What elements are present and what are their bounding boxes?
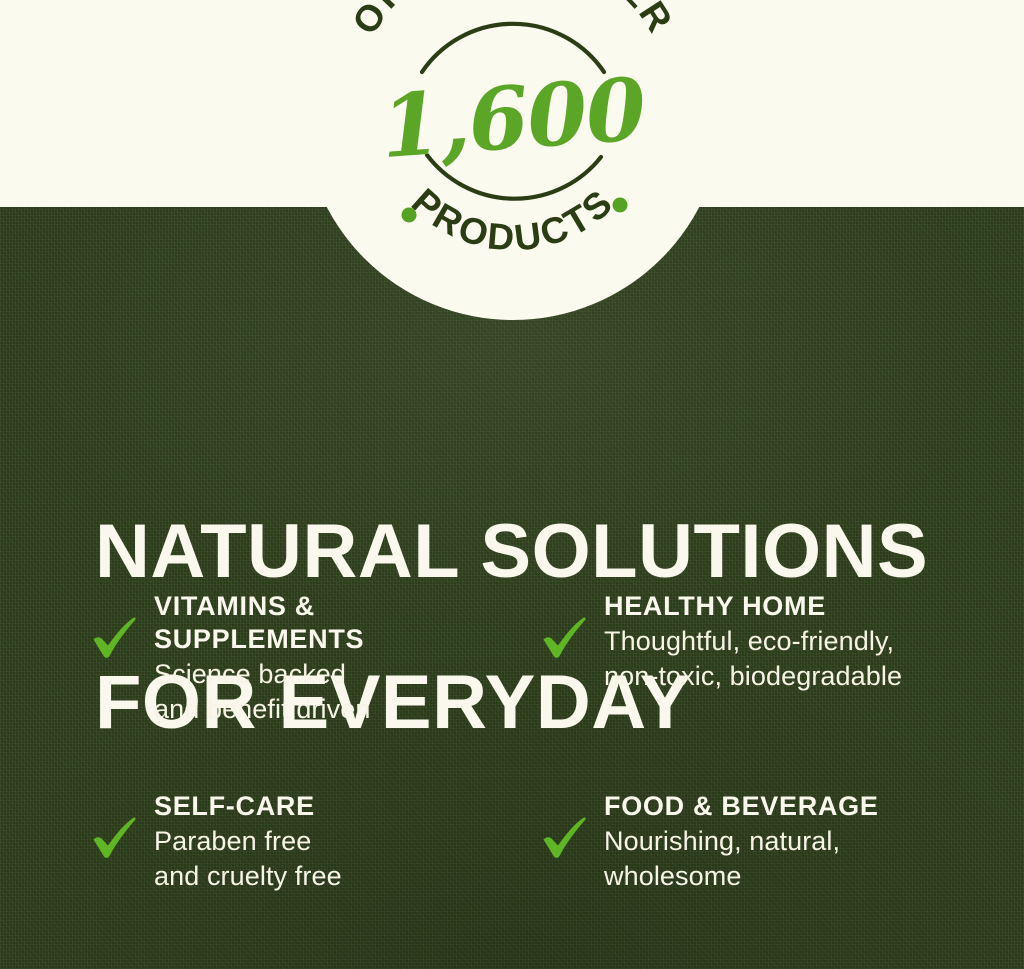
promo-poster: OFFERING OVER PRODUCTS 1,600 NATURAL SOL… bbox=[0, 0, 1024, 969]
feature-title: FOOD & BEVERAGE bbox=[604, 790, 924, 823]
feature-item-healthy-home: HEALTHY HOME Thoughtful, eco-friendly, n… bbox=[0, 590, 924, 790]
dot-separator-left-icon bbox=[402, 208, 417, 223]
feature-item-food-beverage: FOOD & BEVERAGE Nourishing, natural, who… bbox=[0, 790, 924, 895]
feature-text: FOOD & BEVERAGE Nourishing, natural, who… bbox=[604, 790, 924, 895]
feature-grid: VITAMINS & SUPPLEMENTS Science backed an… bbox=[0, 590, 1024, 895]
feature-description: Nourishing, natural, wholesome bbox=[604, 824, 924, 895]
feature-text: HEALTHY HOME Thoughtful, eco-friendly, n… bbox=[604, 590, 924, 695]
feature-description: Thoughtful, eco-friendly, non-toxic, bio… bbox=[604, 624, 924, 695]
feature-title: HEALTHY HOME bbox=[604, 590, 924, 623]
product-count-badge: OFFERING OVER PRODUCTS 1,600 bbox=[303, 0, 723, 320]
badge-top-arc-label: OFFERING OVER bbox=[344, 0, 681, 41]
badge-bottom-arc-label: PRODUCTS bbox=[404, 181, 622, 259]
headline-line-1: NATURAL SOLUTIONS bbox=[95, 514, 928, 589]
check-icon bbox=[542, 616, 586, 660]
check-icon bbox=[542, 816, 586, 860]
dot-separator-right-icon bbox=[613, 198, 628, 213]
